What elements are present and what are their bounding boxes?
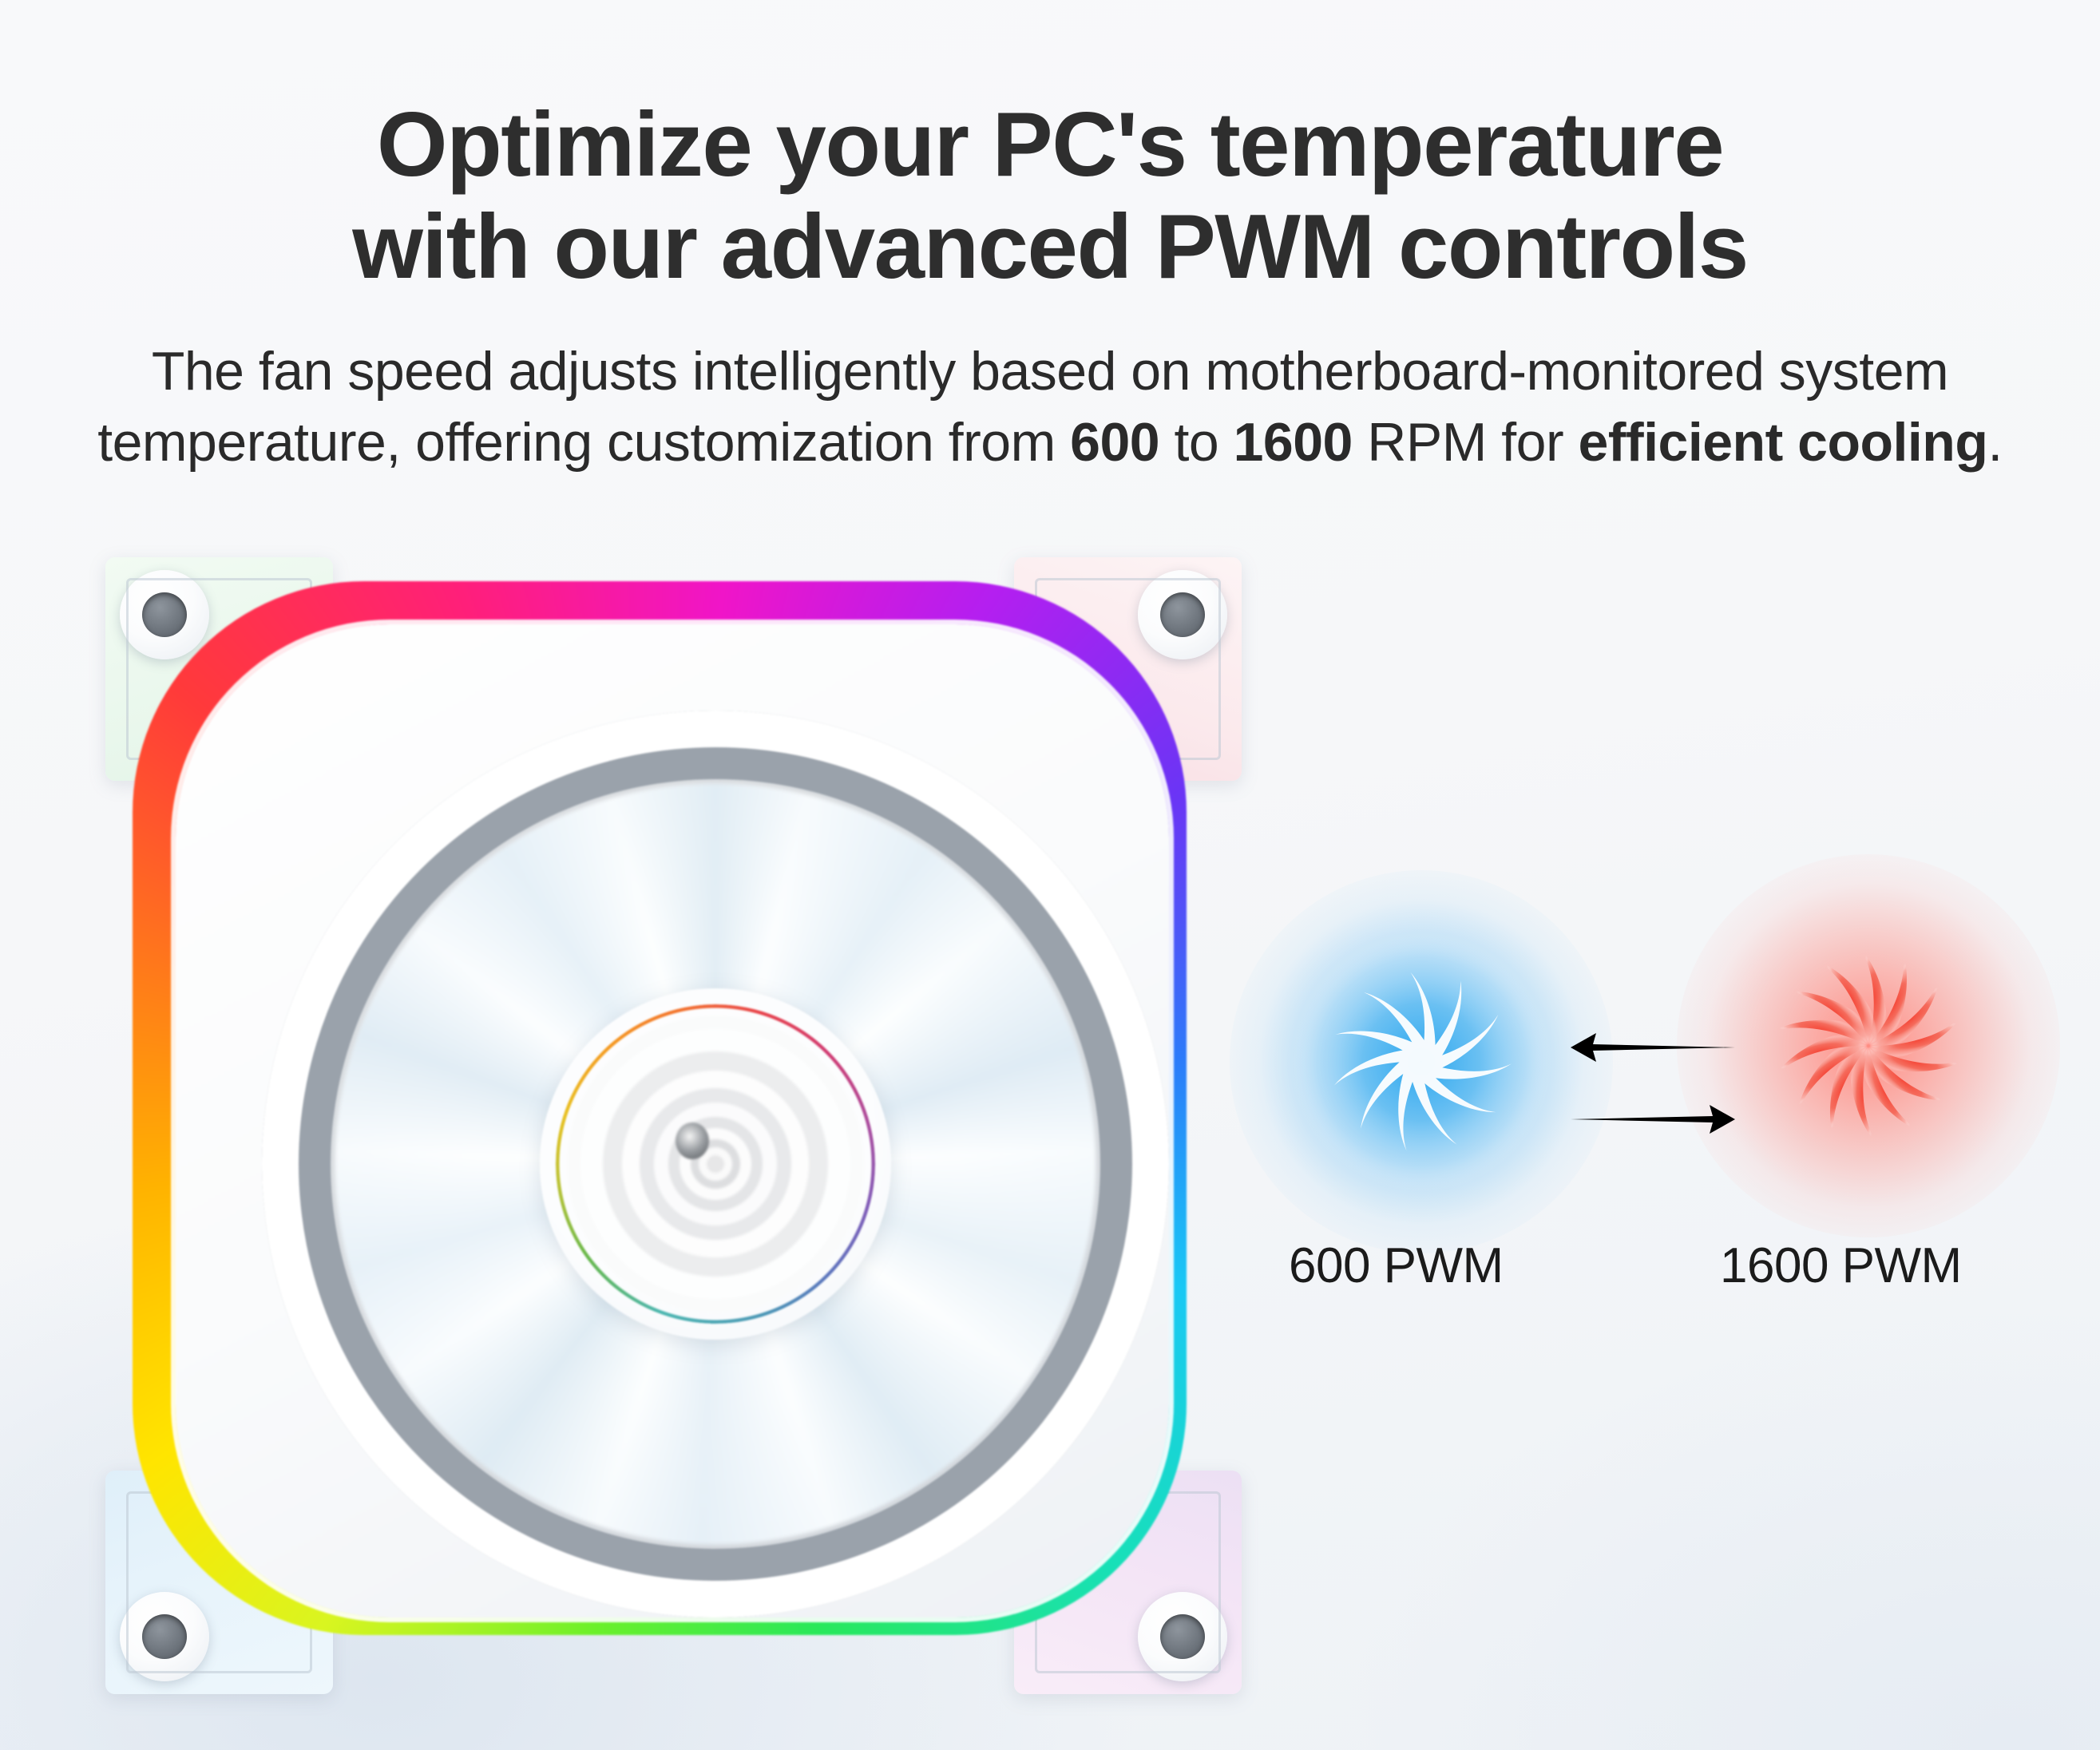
arrow-left-icon [1571, 1033, 1735, 1062]
hub-center-icon [676, 1122, 709, 1159]
page-title: Optimize your PC's temperature with our … [0, 0, 2100, 298]
header: Optimize your PC's temperature with our … [0, 0, 2100, 477]
low-speed-fan-swirl [1286, 926, 1557, 1198]
argb-light-ring [133, 581, 1187, 1635]
fan-frame [176, 624, 1169, 1617]
arrow-right-icon [1571, 1105, 1735, 1134]
red-swirl-icon [1733, 910, 2004, 1182]
screw-hole-icon [120, 1592, 209, 1681]
screw-hole-icon [120, 570, 209, 659]
page-subtitle: The fan speed adjusts intelligently base… [0, 336, 2100, 477]
pwm-speed-comparison: 600 PWM [1270, 894, 2068, 1341]
subtitle-part-3: RPM for [1353, 412, 1579, 473]
screw-hole-icon [1138, 1592, 1227, 1681]
screw-hole-icon [1138, 570, 1227, 659]
hub-face [567, 1016, 864, 1312]
rpm-max-value: 1600 [1234, 412, 1353, 473]
rpm-min-value: 600 [1070, 412, 1159, 473]
high-speed-fan-swirl [1733, 910, 2004, 1182]
subtitle-part-4: . [1987, 412, 2002, 473]
fan-hub [540, 988, 891, 1340]
speed-transition-arrows [1569, 1014, 1737, 1158]
blue-swirl-icon [1286, 926, 1557, 1198]
efficient-cooling-emphasis: efficient cooling [1579, 412, 1988, 473]
low-speed-label: 600 PWM [1289, 1237, 1504, 1294]
argb-fan-product-image [120, 568, 1238, 1686]
high-speed-label: 1600 PWM [1720, 1237, 1962, 1294]
subtitle-part-2: to [1159, 412, 1234, 473]
